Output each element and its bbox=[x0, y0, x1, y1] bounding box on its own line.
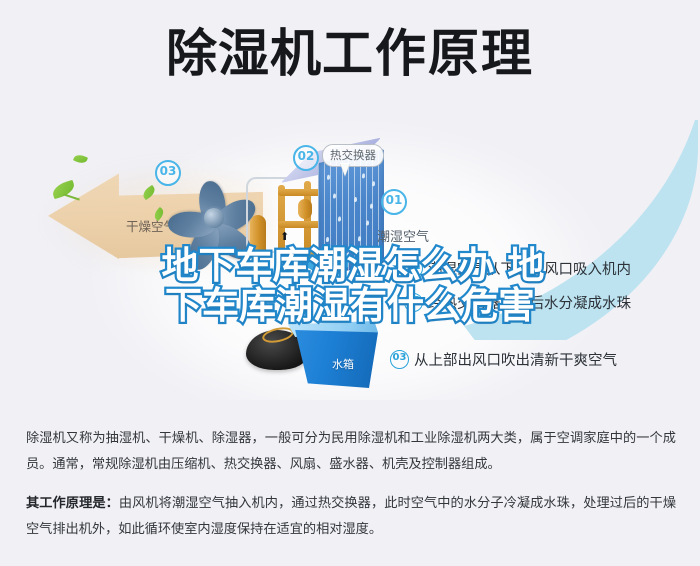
badge-03: 03 bbox=[155, 160, 181, 186]
title-part-1: 除湿机 bbox=[166, 25, 322, 84]
title-part-2: 工作原理 bbox=[322, 27, 534, 83]
callout-tail bbox=[340, 163, 350, 176]
heat-exchanger-callout: 热交换器 bbox=[322, 144, 384, 167]
article-body: 除湿机又称为抽湿机、干燥机、除湿器，一般可分为民用除湿机和工业除湿机两大类，属于… bbox=[0, 412, 700, 556]
fan-hub bbox=[204, 208, 224, 228]
paragraph-2: 其工作原理是：由风机将潮湿空气抽入机内，通过热交换器，此时空气中的水分子冷凝成水… bbox=[26, 491, 676, 543]
water-tank-label: 水箱 bbox=[332, 356, 354, 372]
humid-air-label: 潮湿空气 bbox=[377, 226, 429, 245]
step-text-02: 经热交换器冷却后水分凝成水珠 bbox=[428, 292, 631, 313]
step-line-01: 01 潮湿空气从下部进风口吸入机内 bbox=[404, 258, 631, 279]
step-line-02: 02 经热交换器冷却后水分凝成水珠 bbox=[404, 292, 631, 313]
condensation-drops bbox=[318, 149, 384, 277]
step-text-01: 潮湿空气从下部进风口吸入机内 bbox=[428, 258, 631, 279]
flow-arrow-up-icon: ⬆ bbox=[280, 231, 289, 242]
page-title: 除湿机工作原理 bbox=[0, 28, 700, 82]
step-badge-02: 02 bbox=[404, 293, 423, 312]
paragraph-2-lead: 其工作原理是： bbox=[26, 496, 119, 511]
receiver-cylinder bbox=[250, 215, 266, 255]
step-badge-03: 03 bbox=[390, 350, 409, 369]
heat-exchanger-illustration bbox=[318, 149, 384, 277]
step-line-03: 03 从上部出风口吹出清新干爽空气 bbox=[390, 349, 617, 370]
step-text-03: 从上部出风口吹出清新干爽空气 bbox=[414, 349, 617, 370]
valve-body bbox=[298, 199, 312, 219]
paragraph-1: 除湿机又称为抽湿机、干燥机、除湿器，一般可分为民用除湿机和工业除湿机两大类，属于… bbox=[26, 426, 676, 478]
water-tank-illustration: 水箱 bbox=[288, 330, 378, 388]
badge-02: 02 bbox=[293, 145, 319, 171]
badge-01: 01 bbox=[381, 189, 407, 215]
dehumidifier-infographic: 除湿机工作原理 干燥空气 ➜ ⬆ ⬇ bbox=[0, 0, 700, 410]
step-badge-01: 01 bbox=[404, 259, 423, 278]
paragraph-2-text: 由风机将潮湿空气抽入机内，通过热交换器，此时空气中的水分子冷凝成水珠，处理过后的… bbox=[26, 496, 676, 537]
paragraph-1-text: 除湿机又称为抽湿机、干燥机、除湿器，一般可分为民用除湿机和工业除湿机两大类，属于… bbox=[26, 431, 676, 472]
